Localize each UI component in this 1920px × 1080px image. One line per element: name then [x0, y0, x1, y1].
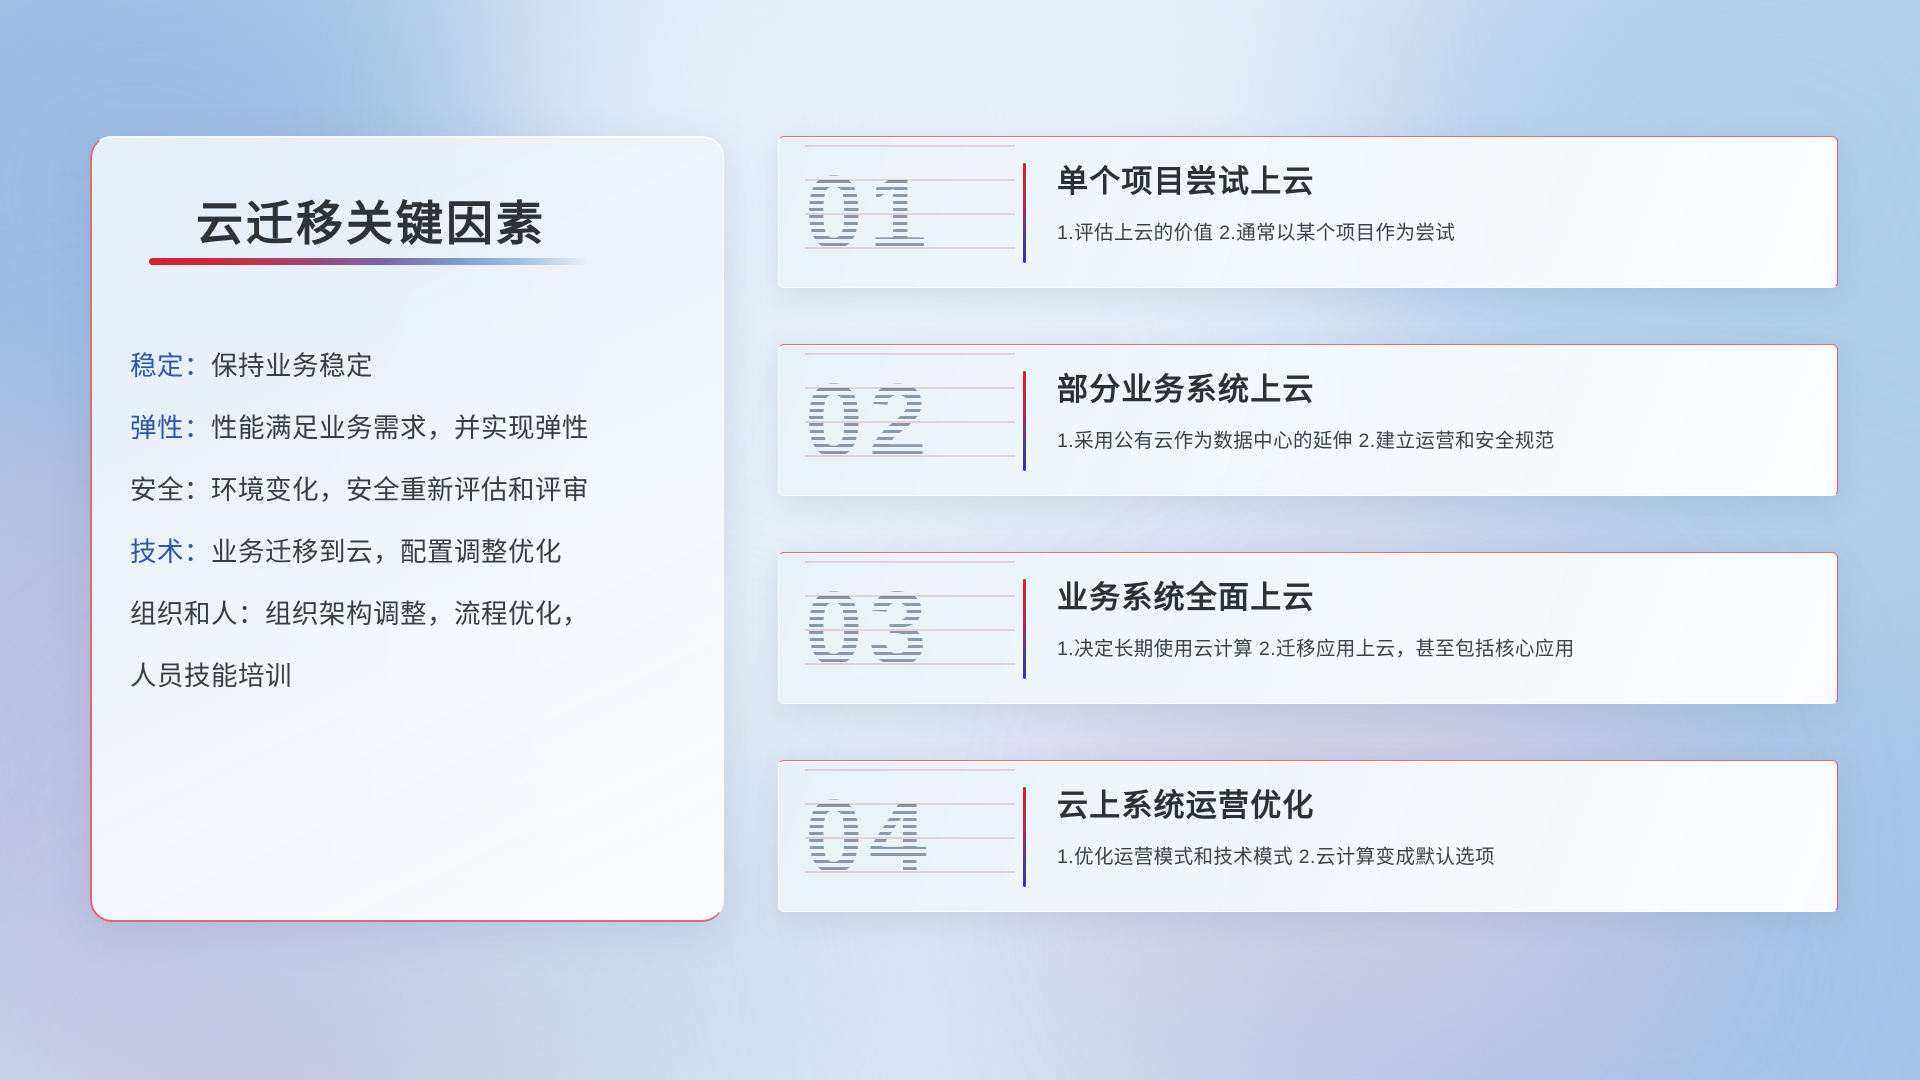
list-item: 弹性：性能满足业务需求，并实现弹性	[130, 397, 690, 459]
factor-label: 稳定：	[130, 351, 211, 381]
factor-text: 环境变化，安全重新评估和评审	[211, 475, 589, 505]
factor-text: 组织架构调整，流程优化，	[265, 599, 589, 629]
step-body: 单个项目尝试上云 1.评估上云的价值 2.通常以某个项目作为尝试	[1057, 159, 1813, 247]
step-number-text: 01	[805, 145, 933, 281]
step-subtitle: 1.优化运营模式和技术模式 2.云计算变成默认选项	[1057, 843, 1813, 871]
step-divider-bar	[1023, 371, 1026, 471]
step-number-text: 03	[805, 561, 933, 697]
step-divider-bar	[1023, 579, 1026, 679]
step-number-text: 02	[805, 353, 933, 489]
step-number-watermark: 04	[805, 769, 1015, 905]
page-title: 云迁移关键因素	[196, 185, 546, 254]
step-number-text: 04	[805, 769, 933, 905]
slide-canvas: 云迁移关键因素 稳定：保持业务稳定 弹性：性能满足业务需求，并实现弹性 安全：环…	[0, 0, 1920, 1080]
step-number-watermark: 02	[805, 353, 1015, 489]
key-factors-list: 稳定：保持业务稳定 弹性：性能满足业务需求，并实现弹性 安全：环境变化，安全重新…	[130, 335, 690, 707]
factor-text: 业务迁移到云，配置调整优化	[211, 537, 562, 567]
factor-text: 保持业务稳定	[211, 351, 373, 381]
factor-text: 性能满足业务需求，并实现弹性	[211, 413, 589, 443]
key-factors-card: 云迁移关键因素 稳定：保持业务稳定 弹性：性能满足业务需求，并实现弹性 安全：环…	[90, 136, 724, 922]
list-item: 组织和人：组织架构调整，流程优化，	[130, 583, 690, 645]
step-title: 业务系统全面上云	[1057, 575, 1813, 621]
background-bloom	[40, 940, 560, 1080]
factor-text: 人员技能培训	[130, 661, 292, 691]
step-title: 云上系统运营优化	[1057, 783, 1813, 829]
step-number-watermark: 03	[805, 561, 1015, 697]
step-card-03[interactable]: 03 业务系统全面上云 1.决定长期使用云计算 2.迁移应用上云，甚至包括核心应…	[778, 552, 1838, 704]
step-body: 部分业务系统上云 1.采用公有云作为数据中心的延伸 2.建立运营和安全规范	[1057, 367, 1813, 455]
step-body: 云上系统运营优化 1.优化运营模式和技术模式 2.云计算变成默认选项	[1057, 783, 1813, 871]
title-accent-bar	[149, 258, 589, 265]
factor-label: 组织和人：	[130, 599, 265, 629]
list-item: 安全：环境变化，安全重新评估和评审	[130, 459, 690, 521]
list-item: 人员技能培训	[130, 645, 690, 707]
step-subtitle: 1.决定长期使用云计算 2.迁移应用上云，甚至包括核心应用	[1057, 635, 1813, 663]
migration-steps-list: 01 单个项目尝试上云 1.评估上云的价值 2.通常以某个项目作为尝试 02 部…	[778, 136, 1838, 912]
factor-label: 弹性：	[130, 413, 211, 443]
step-divider-bar	[1023, 163, 1026, 263]
step-title: 部分业务系统上云	[1057, 367, 1813, 413]
step-card-02[interactable]: 02 部分业务系统上云 1.采用公有云作为数据中心的延伸 2.建立运营和安全规范	[778, 344, 1838, 496]
list-item: 稳定：保持业务稳定	[130, 335, 690, 397]
step-card-01[interactable]: 01 单个项目尝试上云 1.评估上云的价值 2.通常以某个项目作为尝试	[778, 136, 1838, 288]
step-title: 单个项目尝试上云	[1057, 159, 1813, 205]
list-item: 技术：业务迁移到云，配置调整优化	[130, 521, 690, 583]
step-card-04[interactable]: 04 云上系统运营优化 1.优化运营模式和技术模式 2.云计算变成默认选项	[778, 760, 1838, 912]
step-subtitle: 1.评估上云的价值 2.通常以某个项目作为尝试	[1057, 219, 1813, 247]
step-divider-bar	[1023, 787, 1026, 887]
factor-label: 安全：	[130, 475, 211, 505]
step-subtitle: 1.采用公有云作为数据中心的延伸 2.建立运营和安全规范	[1057, 427, 1813, 455]
factor-label: 技术：	[130, 537, 211, 567]
step-number-watermark: 01	[805, 145, 1015, 281]
step-body: 业务系统全面上云 1.决定长期使用云计算 2.迁移应用上云，甚至包括核心应用	[1057, 575, 1813, 663]
